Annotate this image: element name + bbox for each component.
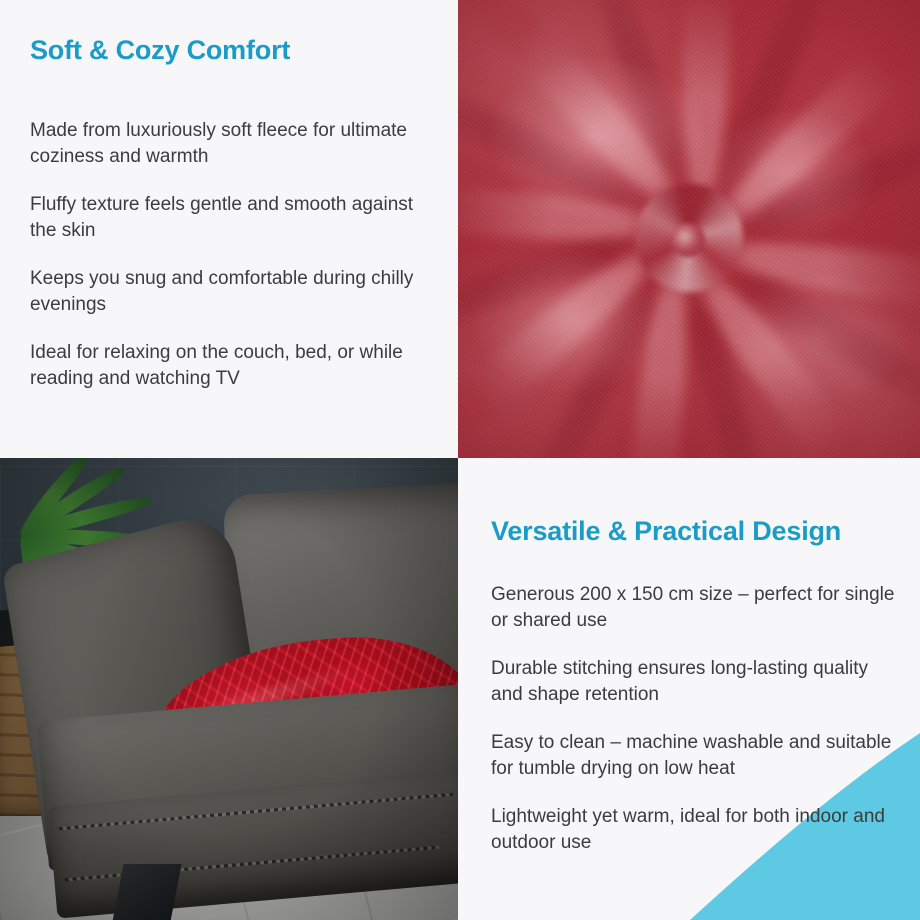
fleece-swirl-image — [458, 0, 920, 458]
living-room-scene — [0, 458, 458, 920]
panel-versatile-and-practical-design: Versatile & Practical Design Generous 20… — [458, 458, 920, 920]
list-item: Ideal for relaxing on the couch, bed, or… — [30, 340, 430, 391]
lifestyle-photo-blanket-on-sofa — [0, 458, 458, 920]
infographic-sheet: Soft & Cozy Comfort Made from luxuriousl… — [0, 0, 920, 920]
list-item: Easy to clean – machine washable and sui… — [491, 730, 896, 781]
feature-list-soft-cozy: Made from luxuriously soft fleece for ul… — [30, 118, 430, 391]
list-item: Keeps you snug and comfortable during ch… — [30, 266, 430, 317]
list-item: Made from luxuriously soft fleece for ul… — [30, 118, 430, 169]
product-photo-fleece-texture — [458, 0, 920, 458]
list-item: Fluffy texture feels gentle and smooth a… — [30, 192, 430, 243]
list-item: Generous 200 x 150 cm size – perfect for… — [491, 582, 896, 633]
panel-soft-and-cozy-comfort: Soft & Cozy Comfort Made from luxuriousl… — [0, 0, 458, 458]
page-title-versatile-practical-design: Versatile & Practical Design — [491, 516, 841, 546]
feature-list-versatile: Generous 200 x 150 cm size – perfect for… — [491, 582, 896, 855]
photo-vignette — [0, 458, 458, 920]
list-item: Lightweight yet warm, ideal for both ind… — [491, 804, 896, 855]
fleece-vignette — [458, 0, 920, 458]
list-item: Durable stitching ensures long-lasting q… — [491, 656, 896, 707]
page-title-soft-cozy-comfort: Soft & Cozy Comfort — [30, 35, 290, 65]
